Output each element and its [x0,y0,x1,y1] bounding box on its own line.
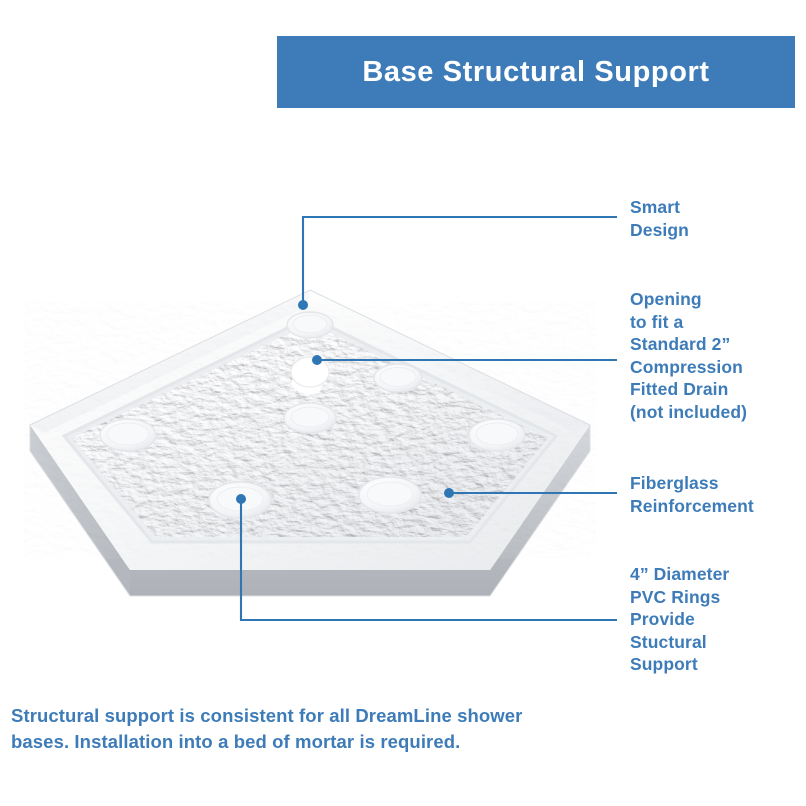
callout-label-smart-design: Smart Design [630,196,802,241]
header-banner: Base Structural Support [277,36,795,108]
pvc-ring-left [100,419,156,451]
footer-caption: Structural support is consistent for all… [11,703,571,756]
page-title: Base Structural Support [362,56,709,89]
pvc-ring-lower-left [209,482,271,518]
callout-label-drain-opening: Opening to fit a Standard 2” Compression… [630,288,806,423]
pvc-ring-right [469,419,525,451]
callout-label-pvc-rings: 4” Diameter PVC Rings Provide Stuctural … [630,563,806,676]
product-illustration [0,255,620,625]
callout-label-fiberglass: Fiberglass Reinforcement [630,472,806,517]
shower-base-render [0,255,620,625]
infographic-canvas: Base Structural Support [0,0,806,806]
pvc-ring-center [284,403,336,433]
pvc-ring-lower-right [359,477,421,513]
pvc-ring-top [287,312,333,338]
pvc-ring-upper-right [374,364,422,392]
